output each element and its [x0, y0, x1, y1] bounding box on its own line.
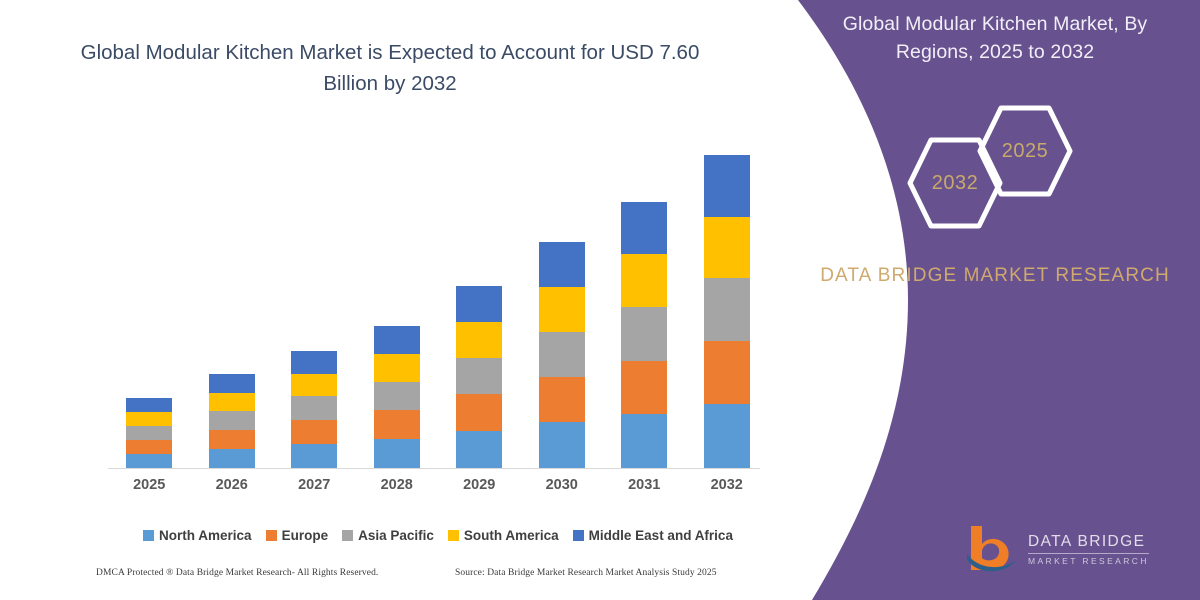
x-axis-label: 2027	[278, 477, 350, 501]
bar-segment	[374, 354, 420, 382]
logo-divider	[1028, 553, 1149, 554]
bar-segment	[374, 382, 420, 411]
logo-line-2: MARKET RESEARCH	[1028, 557, 1149, 566]
legend-swatch-icon	[448, 530, 459, 541]
hexagon-2025: 2025	[977, 105, 1073, 197]
bar-segment	[456, 431, 502, 468]
bar-column	[278, 140, 350, 468]
bar-column	[361, 140, 433, 468]
bar-segment	[539, 287, 585, 332]
bar-segment	[456, 322, 502, 358]
x-axis-labels: 20252026202720282029203020312032	[108, 477, 768, 501]
bar-segment	[704, 155, 750, 217]
legend-label: Europe	[282, 528, 329, 543]
stacked-bar	[291, 351, 337, 468]
bar-column	[113, 140, 185, 468]
x-axis-label: 2029	[443, 477, 515, 501]
bar-segment	[126, 398, 172, 412]
bar-segment	[374, 326, 420, 354]
legend-item[interactable]: North America	[143, 528, 252, 543]
stacked-bar	[126, 398, 172, 468]
legend-item[interactable]: South America	[448, 528, 559, 543]
legend-label: South America	[464, 528, 559, 543]
stacked-bar	[456, 286, 502, 468]
legend-label: Asia Pacific	[358, 528, 434, 543]
bar-segment	[291, 396, 337, 420]
brand-name: DATA BRIDGE MARKET RESEARCH	[810, 262, 1180, 291]
bar-column	[526, 140, 598, 468]
bar-segment	[456, 286, 502, 322]
legend-swatch-icon	[143, 530, 154, 541]
bar-segment	[291, 351, 337, 374]
bar-segment	[126, 426, 172, 440]
bar-column	[443, 140, 515, 468]
infographic-root: Global Modular Kitchen Market is Expecte…	[0, 0, 1200, 600]
bar-segment	[539, 332, 585, 377]
panel-title: Global Modular Kitchen Market, By Region…	[810, 10, 1180, 67]
bar-segment	[456, 358, 502, 395]
footer-copyright: DMCA Protected ® Data Bridge Market Rese…	[96, 568, 378, 578]
legend-item[interactable]: Middle East and Africa	[573, 528, 733, 543]
x-axis-label: 2030	[526, 477, 598, 501]
bar-segment	[539, 242, 585, 287]
stacked-bar	[209, 374, 255, 468]
company-logo: DATA BRIDGE MARKET RESEARCH	[965, 522, 1180, 578]
bar-segment	[374, 410, 420, 439]
footer-source: Source: Data Bridge Market Research Mark…	[455, 568, 717, 578]
bar-column	[608, 140, 680, 468]
x-axis-label: 2031	[608, 477, 680, 501]
bar-segment	[704, 217, 750, 279]
bar-segment	[704, 341, 750, 405]
bar-segment	[126, 412, 172, 426]
legend-label: Middle East and Africa	[589, 528, 733, 543]
x-axis-label: 2026	[196, 477, 268, 501]
bar-segment	[621, 414, 667, 468]
bar-segment	[209, 393, 255, 412]
legend-label: North America	[159, 528, 252, 543]
bar-column	[196, 140, 268, 468]
bar-segment	[621, 202, 667, 255]
bar-segment	[126, 454, 172, 468]
legend-swatch-icon	[342, 530, 353, 541]
legend-item[interactable]: Asia Pacific	[342, 528, 434, 543]
legend-swatch-icon	[573, 530, 584, 541]
bar-segment	[621, 361, 667, 415]
x-axis-label: 2032	[691, 477, 763, 501]
x-axis-label: 2028	[361, 477, 433, 501]
logo-wordmark: DATA BRIDGE MARKET RESEARCH	[1028, 533, 1149, 566]
bar-segment	[621, 254, 667, 307]
bar-segment	[291, 444, 337, 468]
brand-panel: Global Modular Kitchen Market, By Region…	[780, 0, 1200, 600]
bar-segment	[456, 394, 502, 431]
data-bridge-logo-icon	[965, 524, 1021, 576]
hexagon-badges: 2032 2025	[885, 105, 1185, 235]
bar-segment	[374, 439, 420, 468]
bar-segment	[704, 278, 750, 341]
bar-chart-bars	[108, 140, 768, 468]
hexagon-2025-label: 2025	[977, 105, 1073, 197]
bar-segment	[539, 377, 585, 423]
bar-segment	[126, 440, 172, 454]
bar-segment	[704, 404, 750, 468]
bar-segment	[209, 374, 255, 393]
bar-segment	[291, 374, 337, 397]
footer: DMCA Protected ® Data Bridge Market Rese…	[0, 568, 800, 590]
bar-segment	[209, 430, 255, 449]
stacked-bar	[704, 155, 750, 468]
bar-column	[691, 140, 763, 468]
bar-segment	[209, 411, 255, 430]
bar-segment	[291, 420, 337, 444]
stacked-bar	[621, 202, 667, 468]
chart-legend: North AmericaEuropeAsia PacificSouth Ame…	[108, 528, 768, 543]
stacked-bar	[539, 242, 585, 468]
chart-area: Global Modular Kitchen Market is Expecte…	[0, 0, 800, 600]
legend-swatch-icon	[266, 530, 277, 541]
page-title: Global Modular Kitchen Market is Expecte…	[60, 38, 720, 100]
bar-segment	[209, 449, 255, 468]
stacked-bar	[374, 326, 420, 468]
logo-line-1: DATA BRIDGE	[1028, 533, 1149, 551]
bar-segment	[621, 307, 667, 361]
legend-item[interactable]: Europe	[266, 528, 329, 543]
x-axis-label: 2025	[113, 477, 185, 501]
bar-segment	[539, 422, 585, 468]
x-axis-line	[108, 468, 760, 469]
